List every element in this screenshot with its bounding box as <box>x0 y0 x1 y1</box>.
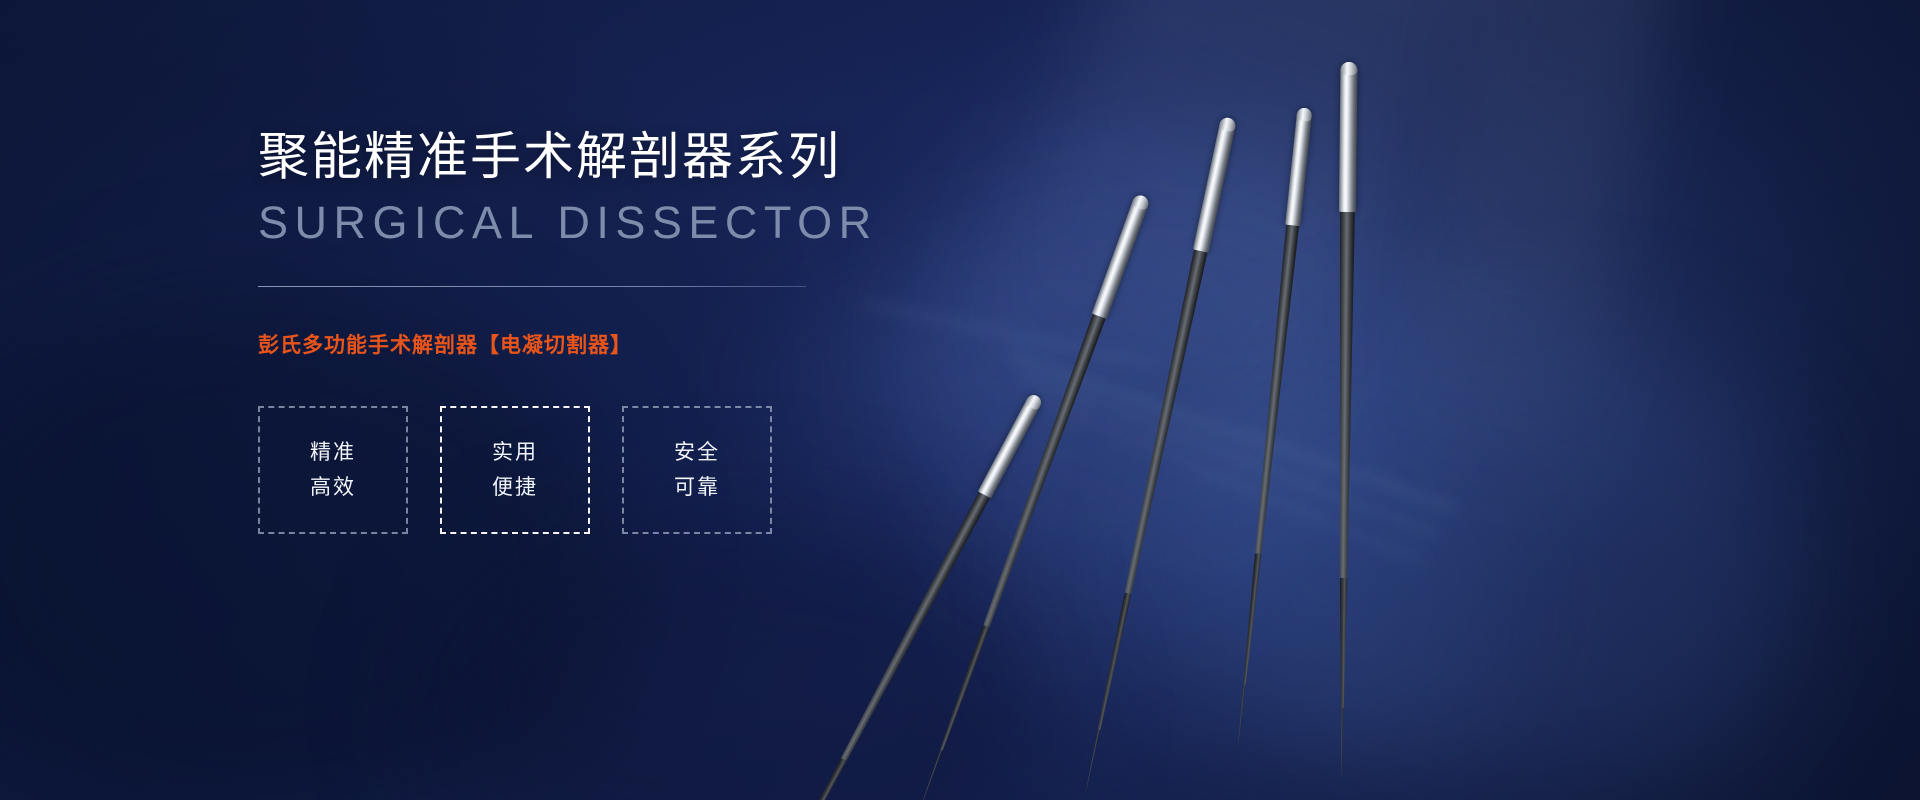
probe-5-black-shaft <box>1336 212 1355 578</box>
probe-2-metal-handle <box>1092 193 1151 319</box>
probe-5-taper <box>1338 578 1347 708</box>
probe-3-taper <box>1095 593 1131 731</box>
background-instrument-blur-1 <box>1009 352 1456 512</box>
background-instrument-blur-3 <box>1039 398 1427 566</box>
feature-badge-2[interactable]: 实用便捷 <box>440 406 590 534</box>
background-glove-blur-c <box>995 391 1525 799</box>
probe-3-metal-handle <box>1193 116 1237 252</box>
feature-badge-3-line2: 可靠 <box>674 477 720 498</box>
probe-3-needle-tip <box>1084 730 1100 795</box>
probe-1-taper <box>784 758 846 800</box>
surgical-dissector-probe-2 <box>1142 196 1144 197</box>
surgical-dissector-probe-1 <box>1036 396 1038 397</box>
feature-badge-3[interactable]: 安全可靠 <box>622 406 772 534</box>
feature-badge-1-line1: 精准 <box>310 442 356 463</box>
page-title-english: SURGICAL DISSECTOR <box>258 199 1018 246</box>
probe-4-needle-tip <box>1237 685 1246 747</box>
probe-5-metal-handle <box>1339 62 1358 212</box>
product-hero-banner: 聚能精准手术解剖器系列 SURGICAL DISSECTOR 彭氏多功能手术解剖… <box>0 0 1920 800</box>
banner-text-column: 聚能精准手术解剖器系列 SURGICAL DISSECTOR 彭氏多功能手术解剖… <box>258 128 1018 534</box>
background-instrument-blur-2 <box>1019 372 1441 538</box>
probe-4-taper <box>1241 553 1261 685</box>
title-divider <box>258 286 806 287</box>
probe-3-black-shaft <box>1121 250 1207 595</box>
page-title: 聚能精准手术解剖器系列 <box>258 128 1018 185</box>
light-beam-secondary <box>1376 0 1684 533</box>
feature-badge-1[interactable]: 精准高效 <box>258 406 408 534</box>
probe-5-needle-tip <box>1340 708 1343 780</box>
probe-4-black-shaft <box>1252 225 1299 555</box>
probe-4-metal-handle <box>1285 107 1312 226</box>
probe-2-taper <box>938 625 990 751</box>
product-subtitle: 彭氏多功能手术解剖器【电凝切割器】 <box>258 329 1018 359</box>
feature-badge-1-line2: 高效 <box>310 477 356 498</box>
feature-badge-group: 精准高效实用便捷安全可靠 <box>258 406 1018 534</box>
background-glove-blur-b <box>1180 330 1800 800</box>
background-shadow-center <box>430 520 1050 800</box>
feature-badge-2-line1: 实用 <box>492 442 538 463</box>
feature-badge-2-line2: 便捷 <box>492 477 538 498</box>
probe-2-needle-tip <box>918 750 942 800</box>
feature-badge-3-line1: 安全 <box>674 442 720 463</box>
